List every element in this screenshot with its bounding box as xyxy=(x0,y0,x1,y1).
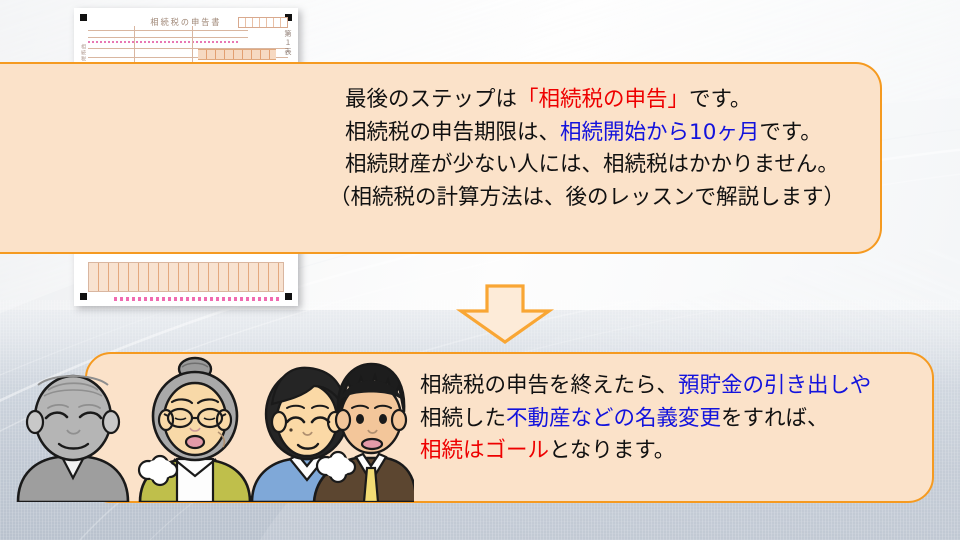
plain-text: 最後のステップは xyxy=(345,87,517,112)
person-deceased-elderly-man xyxy=(18,376,128,502)
callout-bottom-text: 相続税の申告を終えたら、預貯金の引き出しや相続した不動産などの名義変更をすれば、… xyxy=(420,370,871,468)
form-registration-mark-bl xyxy=(80,293,87,300)
callout-top-text: 最後のステップは「相続税の申告」です。相続税の申告期限は、相続開始から10ヶ月で… xyxy=(345,84,845,214)
form-registration-mark-br xyxy=(285,293,292,300)
person-elderly-woman xyxy=(139,358,250,502)
plain-text: です。 xyxy=(759,120,821,145)
down-arrow-icon xyxy=(455,283,555,345)
plain-text: をすれば、 xyxy=(721,406,829,431)
callout-bottom-line-1: 相続税の申告を終えたら、預貯金の引き出しや xyxy=(420,370,871,403)
plain-text: 相続税の申告を終えたら、 xyxy=(420,373,678,398)
callout-bottom-line-3: 相続はゴールとなります。 xyxy=(420,435,871,468)
plain-text: 相続財産が少ない人には、相続税はかかりません。 xyxy=(345,152,839,177)
family-illustration xyxy=(4,356,414,502)
plain-text: 相続税の申告期限は、 xyxy=(345,120,560,145)
plain-text: 相続した xyxy=(420,406,506,431)
form-rule xyxy=(88,37,248,38)
form-digit-boxes xyxy=(198,49,276,60)
slide-canvas: 相続税の申告書 相続税の申告書 第１表（平成30年分以降用） 最後のステップは「… xyxy=(0,0,960,540)
callout-top-line-2: 相続税の申告期限は、相続開始から10ヶ月です。 xyxy=(345,117,845,150)
form-registration-mark-tl xyxy=(80,14,87,21)
highlight-blue: 預貯金の引き出しや xyxy=(678,373,871,398)
callout-top-line-1: 最後のステップは「相続税の申告」です。 xyxy=(345,84,845,117)
highlight-blue: 相続開始から10ヶ月 xyxy=(560,120,759,145)
form-footer-boxes xyxy=(88,262,284,292)
form-rule xyxy=(88,30,248,31)
highlight-red: 相続はゴール xyxy=(420,438,549,463)
highlight-red: 「相続税の申告」 xyxy=(517,87,689,112)
form-barcode-box xyxy=(238,17,288,28)
form-title: 相続税の申告書 xyxy=(139,16,234,27)
callout-top-line-3: 相続財産が少ない人には、相続税はかかりません。 xyxy=(345,149,845,182)
plain-text: （相続税の計算方法は、後のレッスンで解説します） xyxy=(329,185,845,210)
callout-bottom-line-2: 相続した不動産などの名義変更をすれば、 xyxy=(420,403,871,436)
plain-text: です。 xyxy=(689,87,751,112)
plain-text: となります。 xyxy=(549,438,675,463)
callout-top-line-4: （相続税の計算方法は、後のレッスンで解説します） xyxy=(329,182,845,215)
form-footnote-pink xyxy=(114,297,282,301)
form-pink-rule xyxy=(88,41,240,43)
highlight-blue: 不動産などの名義変更 xyxy=(506,406,721,431)
